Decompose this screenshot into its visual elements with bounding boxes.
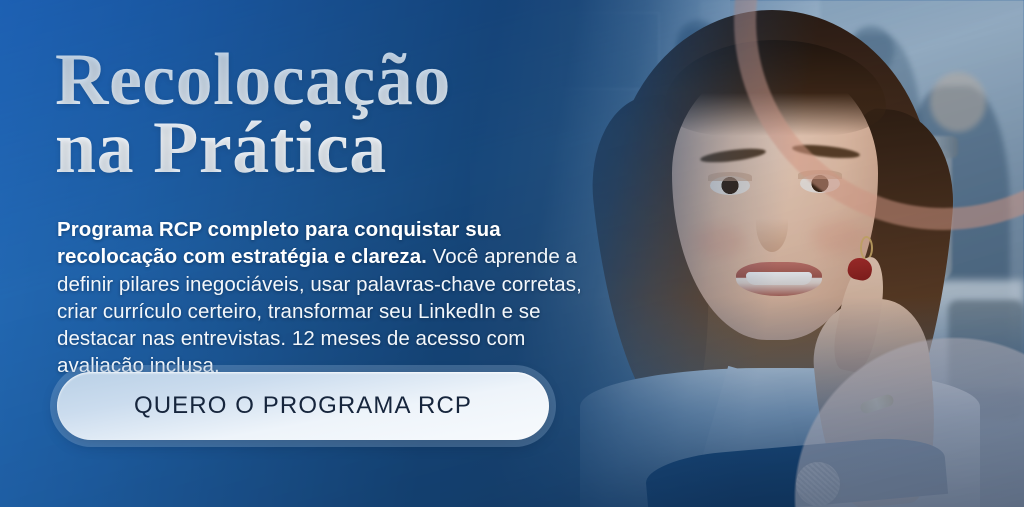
cta-quero-o-programa-rcp-button[interactable]: QUERO O PROGRAMA RCP [57,372,549,440]
page-title: Recolocação na Prática [55,46,620,182]
promo-banner: Recolocação na Prática Programa RCP comp… [0,0,1024,507]
banner-description: Programa RCP completo para conquistar su… [57,216,602,380]
cta-container: QUERO O PROGRAMA RCP [57,372,549,440]
